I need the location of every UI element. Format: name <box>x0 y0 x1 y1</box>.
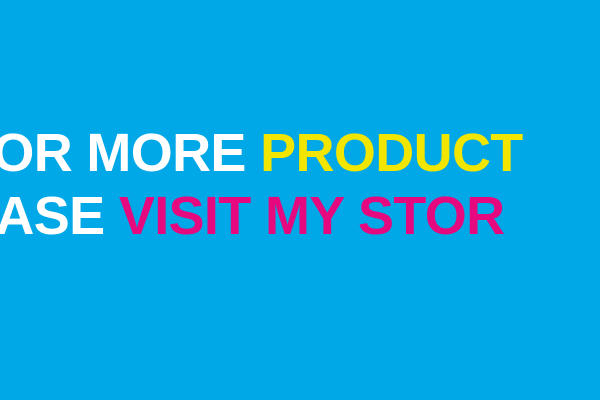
headline-line-1-segment-white: FOR MORE <box>0 123 260 183</box>
headline-line-2-segment-white: EASE <box>0 186 119 246</box>
headline-block: FOR MORE PRODUCT EASE VISIT MY STOR <box>0 128 600 241</box>
promo-banner: FOR MORE PRODUCT EASE VISIT MY STOR <box>0 0 600 400</box>
headline-line-1: FOR MORE PRODUCT <box>0 128 600 178</box>
headline-line-1-segment-yellow: PRODUCT <box>260 123 522 183</box>
headline-line-2: EASE VISIT MY STOR <box>0 191 600 241</box>
headline-line-2-segment-magenta: VISIT MY STOR <box>119 186 505 246</box>
